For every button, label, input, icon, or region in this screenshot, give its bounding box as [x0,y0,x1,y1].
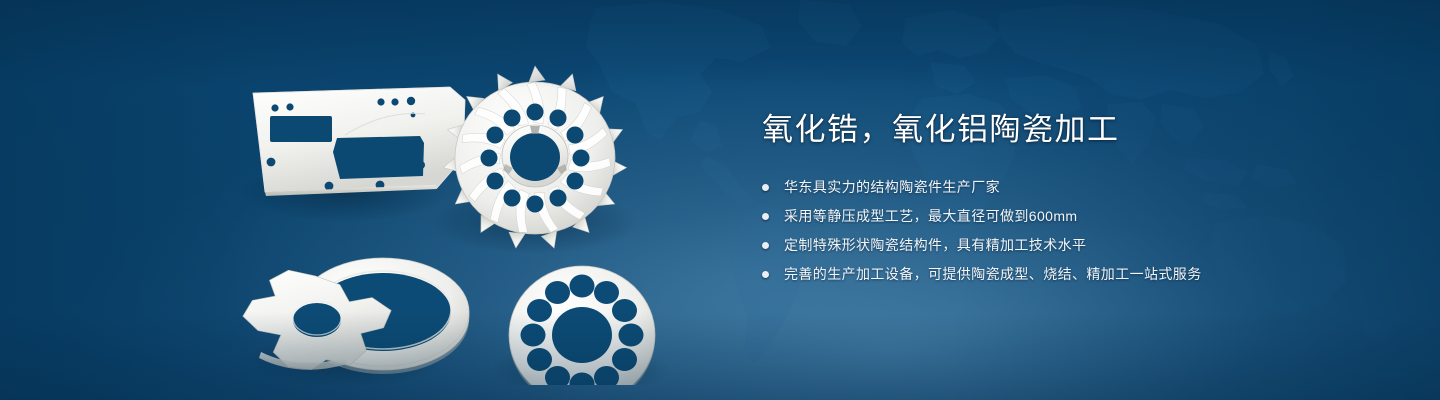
ceramic-perforated-disc-shape [509,266,655,385]
bullet-dot-icon [762,271,769,278]
feature-item: 定制特殊形状陶瓷结构件，具有精加工技术水平 [762,234,1402,256]
feature-item: 采用等静压成型工艺，最大直径可做到600mm [762,205,1402,227]
feature-item: 华东具实力的结构陶瓷件生产厂家 [762,176,1402,198]
ceramic-mounting-plate-shape [253,87,465,196]
feature-item-label: 完善的生产加工设备，可提供陶瓷成型、烧结、精加工一站式服务 [784,266,1202,282]
feature-item: 完善的生产加工设备，可提供陶瓷成型、烧结、精加工一站式服务 [762,263,1402,285]
bullet-dot-icon [762,242,769,249]
banner-copy-block: 氧化锆，氧化铝陶瓷加工 华东具实力的结构陶瓷件生产厂家 采用等静压成型工艺，最大… [762,110,1402,285]
feature-item-label: 采用等静压成型工艺，最大直径可做到600mm [784,208,1077,224]
banner-headline: 氧化锆，氧化铝陶瓷加工 [762,110,1402,150]
bullet-dot-icon [762,184,769,191]
feature-item-label: 定制特殊形状陶瓷结构件，具有精加工技术水平 [784,237,1086,253]
banner-feature-list: 华东具实力的结构陶瓷件生产厂家 采用等静压成型工艺，最大直径可做到600mm 定… [762,176,1402,285]
ceramic-products-image [225,40,725,385]
promo-banner: 氧化锆，氧化铝陶瓷加工 华东具实力的结构陶瓷件生产厂家 采用等静压成型工艺，最大… [0,0,1440,400]
feature-item-label: 华东具实力的结构陶瓷件生产厂家 [784,179,1000,195]
bullet-dot-icon [762,213,769,220]
